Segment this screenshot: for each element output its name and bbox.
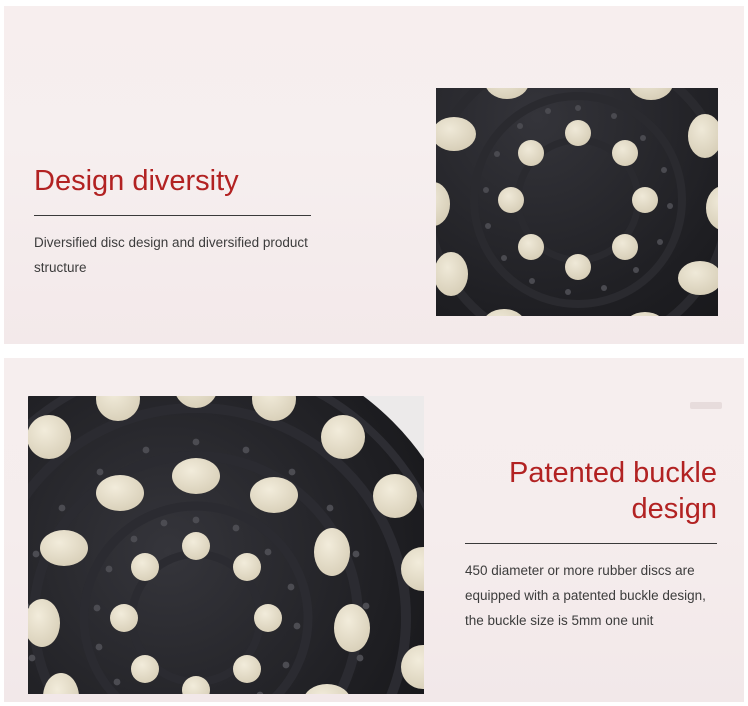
panel-one-heading: Design diversity [34,164,414,198]
panel-two-text-block: Patented buckle design 450 diameter or m… [452,455,730,646]
panel-design-diversity: Design diversity Diversified disc design… [4,6,744,344]
panel-two-body: 450 diameter or more rubber discs are eq… [465,558,708,633]
panel-one-text-block: Design diversity Diversified disc design… [34,164,414,294]
faint-watermark [690,402,722,409]
panel-two-divider [465,543,717,544]
panel-one-body: Diversified disc design and diversified … [34,230,324,280]
disc-photo-bottom [28,396,424,694]
page-root: Design diversity Diversified disc design… [0,0,748,706]
panel-one-divider [34,215,311,216]
disc-illustration-top [436,88,718,316]
rubber-disc-graphic [436,88,718,316]
panel-two-heading: Patented buckle design [452,455,717,527]
disc-photo-top [436,88,718,316]
rubber-disc-graphic-closeup [28,396,424,694]
disc-illustration-bottom [28,396,424,694]
